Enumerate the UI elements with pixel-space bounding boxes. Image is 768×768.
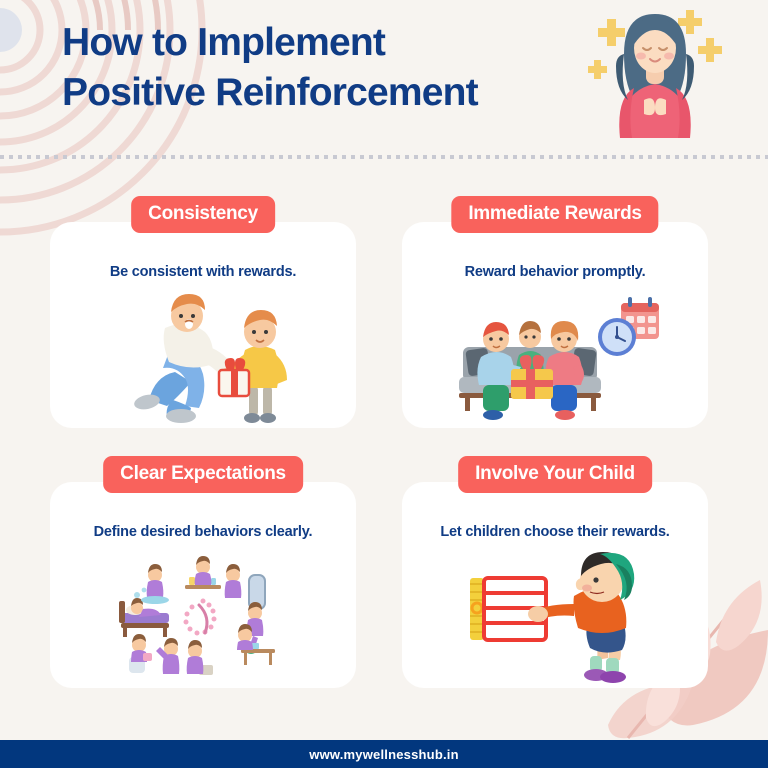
card-caption: Let children choose their rewards. <box>402 524 708 540</box>
page-title: How to Implement Positive Reinforcement <box>62 18 602 118</box>
card-caption: Reward behavior promptly. <box>402 264 708 280</box>
footer-bar: www.mywellnesshub.in <box>0 740 768 768</box>
card-badge: Involve Your Child <box>458 456 652 493</box>
infographic-root: How to Implement Positive Reinforcement <box>0 0 768 768</box>
card-badge: Consistency <box>131 196 275 233</box>
page-title-line-1: How to Implement <box>62 18 602 68</box>
woman-smiling-illustration <box>580 6 730 138</box>
cards-grid: Consistency Be consistent with rewards. <box>50 222 718 712</box>
card-clear-expectations[interactable]: Clear Expectations Define desired behavi… <box>50 482 356 688</box>
footer-url[interactable]: www.mywellnesshub.in <box>309 747 458 762</box>
card-consistency[interactable]: Consistency Be consistent with rewards. <box>50 222 356 428</box>
card-caption: Define desired behaviors clearly. <box>50 524 356 540</box>
daily-routine-circle-girl-illustration <box>50 548 356 688</box>
header: How to Implement Positive Reinforcement <box>0 0 768 152</box>
boy-with-reward-chart-illustration <box>402 548 708 688</box>
card-badge: Immediate Rewards <box>451 196 658 233</box>
card-badge: Clear Expectations <box>103 456 303 493</box>
card-immediate-rewards[interactable]: Immediate Rewards Reward behavior prompt… <box>402 222 708 428</box>
card-involve-your-child[interactable]: Involve Your Child Let children choose t… <box>402 482 708 688</box>
card-caption: Be consistent with rewards. <box>50 264 356 280</box>
page-title-line-2: Positive Reinforcement <box>62 68 602 118</box>
dotted-divider <box>0 155 768 159</box>
family-on-sofa-with-gift-clock-calendar-illustration <box>402 288 708 428</box>
father-giving-gift-to-boy-illustration <box>50 288 356 428</box>
